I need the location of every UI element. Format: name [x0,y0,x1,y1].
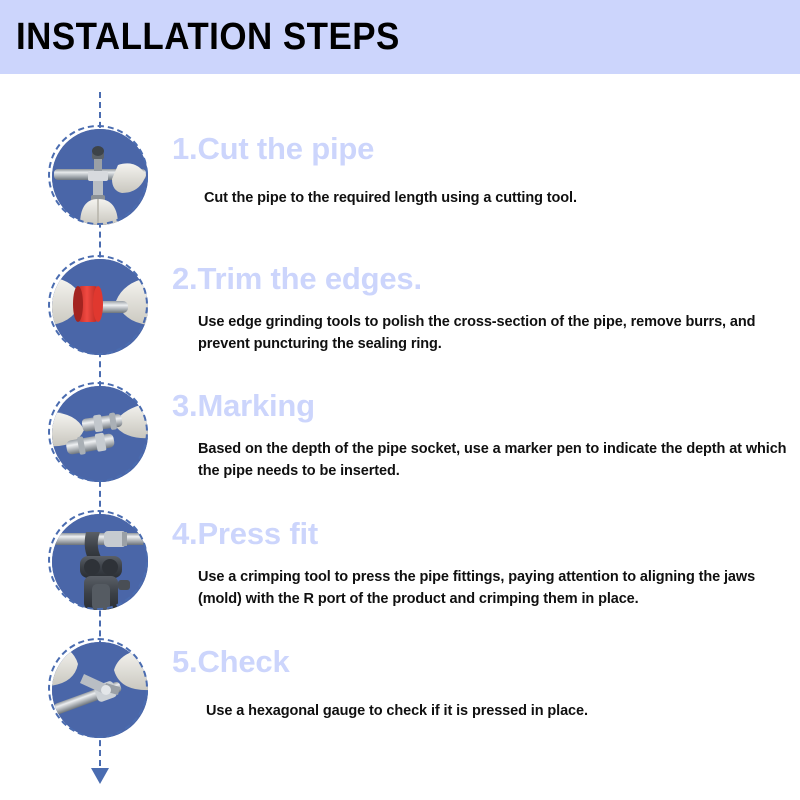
steps-timeline: 1.Cut the pipe Cut the pipe to the requi… [0,74,800,800]
step-5-photo [52,642,148,738]
step-2-photo [52,259,148,355]
step-5-description: Use a hexagonal gauge to check if it is … [206,700,766,722]
step-2-title: 2.Trim the edges. [172,261,422,297]
step-1-description: Cut the pipe to the required length usin… [204,187,764,209]
page-title: INSTALLATION STEPS [16,16,400,59]
step-5-dashed-ring [48,638,148,738]
step-1-photo [52,129,148,225]
step-4-title: 4.Press fit [172,516,318,552]
step-4-photo [52,514,148,610]
step-3-description: Based on the depth of the pipe socket, u… [198,438,798,483]
step-5-title: 5.Check [172,644,290,680]
step-3-title: 3.Marking [172,388,315,424]
step-3-dashed-ring [48,382,148,482]
step-2-description: Use edge grinding tools to polish the cr… [198,311,798,356]
step-4-dashed-ring [48,510,148,610]
step-1-dashed-ring [48,125,148,225]
step-3-photo [52,386,148,482]
step-1-title: 1.Cut the pipe [172,131,374,167]
step-4-description: Use a crimping tool to press the pipe fi… [198,566,794,611]
header-band: INSTALLATION STEPS [0,0,800,74]
flow-down-arrow-icon [91,768,109,784]
step-2-dashed-ring [48,255,148,355]
